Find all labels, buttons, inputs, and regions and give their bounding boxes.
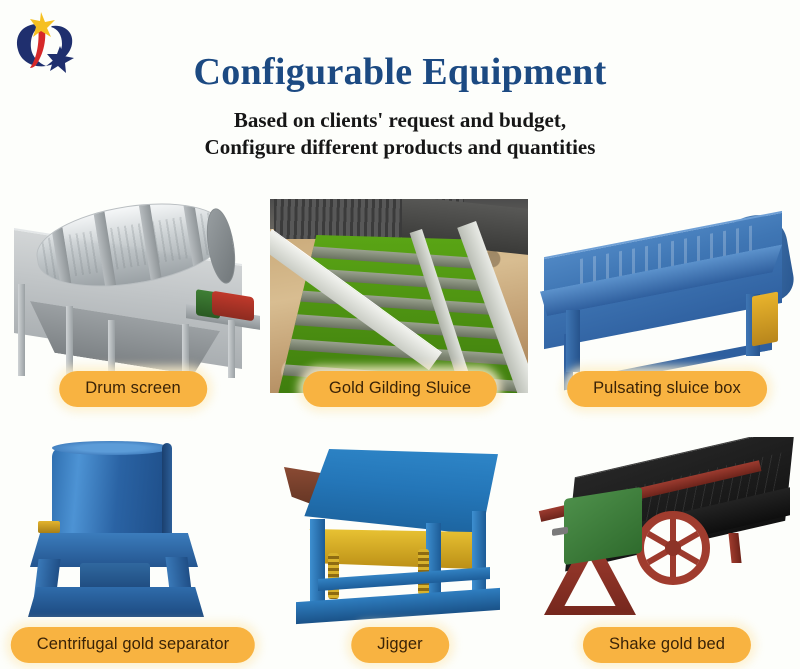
product-card-gold-gilding-sluice[interactable]: Gold Gilding Sluice <box>266 190 534 429</box>
jigger-cross-beam <box>318 567 490 591</box>
page-title: Configurable Equipment <box>0 52 800 93</box>
product-card-shake-gold-bed[interactable]: Shake gold bed <box>534 429 800 669</box>
product-label-drum-screen[interactable]: Drum screen <box>59 371 207 407</box>
jigger-base <box>296 588 500 624</box>
product-card-centrifugal-gold-separator[interactable]: Centrifugal gold separator <box>0 429 266 669</box>
product-card-pulsating-sluice-box[interactable]: Pulsating sluice box <box>534 190 800 429</box>
product-card-drum-screen[interactable]: Drum screen <box>0 190 266 429</box>
product-label-jigger[interactable]: Jigger <box>351 627 449 663</box>
pulsating-box-leg <box>566 310 580 372</box>
separator-base <box>28 587 204 617</box>
jigger-photo <box>266 437 534 633</box>
product-label-shake-gold-bed[interactable]: Shake gold bed <box>583 627 751 663</box>
product-label-gold-gilding-sluice[interactable]: Gold Gilding Sluice <box>303 371 497 407</box>
jigger-spring <box>328 553 339 599</box>
product-label-pulsating-sluice-box[interactable]: Pulsating sluice box <box>567 371 767 407</box>
banner-header: Configurable Equipment Based on clients'… <box>0 52 800 162</box>
equipment-catalog-banner: Configurable Equipment Based on clients'… <box>0 0 800 669</box>
shake-gold-bed-photo <box>534 437 800 633</box>
subtitle-line-2: Configure different products and quantit… <box>0 134 800 161</box>
drum-leg <box>228 320 235 378</box>
pulsating-box-yellow-drive <box>752 291 778 346</box>
shaking-table-gearbox <box>564 487 642 565</box>
drum-leg <box>18 284 25 376</box>
shaking-table-flywheel <box>636 511 710 585</box>
drum-screen-photo <box>0 198 266 394</box>
separator-yellow-bracket <box>38 521 60 533</box>
page-subtitle: Based on clients' request and budget, Co… <box>0 107 800 162</box>
pulsating-sluice-box-photo <box>534 198 800 394</box>
shaking-table-leg <box>728 533 741 563</box>
product-label-centrifugal-gold-separator[interactable]: Centrifugal gold separator <box>11 627 255 663</box>
product-card-jigger[interactable]: Jigger <box>266 429 534 669</box>
separator-pipe <box>162 443 172 539</box>
product-grid: Drum screen <box>0 190 800 669</box>
subtitle-line-1: Based on clients' request and budget, <box>234 108 566 132</box>
centrifugal-gold-separator-photo <box>0 437 266 633</box>
gold-gilding-sluice-photo <box>270 199 528 393</box>
separator-bowl <box>52 447 170 543</box>
